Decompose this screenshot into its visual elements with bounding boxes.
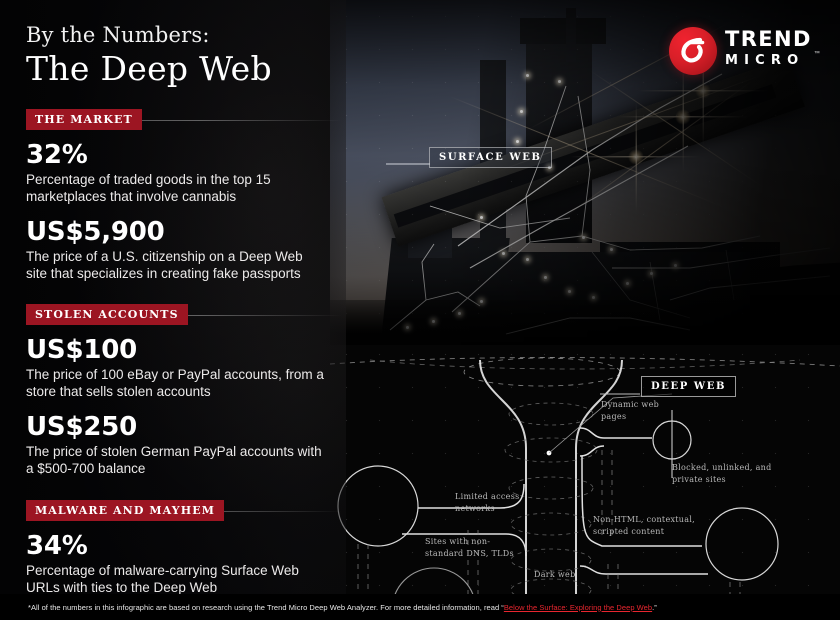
- deep-web-leader-line: [600, 390, 644, 398]
- stat-item: US$100 The price of 100 eBay or PayPal a…: [26, 335, 326, 401]
- section-header-row: THE MARKET: [26, 109, 326, 130]
- logo-trend-text: TREND: [725, 29, 812, 50]
- left-content-panel: By the Numbers: The Deep Web THE MARKET …: [0, 0, 346, 620]
- stat-description: The price of stolen German PayPal accoun…: [26, 443, 326, 478]
- section-the-market: THE MARKET 32% Percentage of traded good…: [26, 109, 326, 282]
- chip-surface-web: SURFACE WEB: [429, 147, 552, 168]
- section-header-row: STOLEN ACCOUNTS: [26, 304, 326, 325]
- diagram-label-non-html: Non-HTML, contextual, scripted content: [593, 514, 697, 537]
- footer-disclaimer: *All of the numbers in this infographic …: [0, 603, 657, 612]
- section-badge-stolen-accounts: STOLEN ACCOUNTS: [26, 304, 188, 325]
- section-stolen-accounts: STOLEN ACCOUNTS US$100 The price of 100 …: [26, 304, 326, 477]
- stat-value: US$5,900: [26, 217, 326, 247]
- chip-deep-web: DEEP WEB: [641, 376, 736, 397]
- stat-item: US$250 The price of stolen German PayPal…: [26, 412, 326, 478]
- stat-value: 32%: [26, 140, 326, 170]
- stat-description: Percentage of traded goods in the top 15…: [26, 171, 326, 206]
- stat-description: The price of 100 eBay or PayPal accounts…: [26, 366, 326, 401]
- page-title: The Deep Web: [26, 49, 326, 88]
- stat-item: 34% Percentage of malware-carrying Surfa…: [26, 531, 326, 597]
- stat-value: US$250: [26, 412, 326, 442]
- diagram-label-blocked-sites: Blocked, unlinked, and private sites: [672, 462, 792, 485]
- stat-description: The price of a U.S. citizenship on a Dee…: [26, 248, 326, 283]
- logo-micro-text: MICRO: [725, 54, 812, 67]
- section-badge-the-market: THE MARKET: [26, 109, 142, 130]
- stats-content: By the Numbers: The Deep Web THE MARKET …: [26, 0, 326, 620]
- logo-wordmark: TREND MICRO ™: [725, 29, 812, 67]
- section-badge-malware-and-mayhem: MALWARE AND MAYHEM: [26, 500, 224, 521]
- stat-item: 32% Percentage of traded goods in the to…: [26, 140, 326, 206]
- page-title-eyebrow: By the Numbers:: [26, 23, 326, 47]
- section-header-row: MALWARE AND MAYHEM: [26, 500, 326, 521]
- trend-micro-logo: TREND MICRO ™: [669, 27, 819, 75]
- deep-web-funnel-diagram: Dynamic web pages Blocked, unlinked, and…: [330, 338, 840, 600]
- stat-item: US$5,900 The price of a U.S. citizenship…: [26, 217, 326, 283]
- stat-value: 34%: [26, 531, 326, 561]
- trend-micro-ball-icon: [669, 27, 717, 75]
- footer-text-after: .”: [652, 603, 657, 612]
- diagram-label-non-standard-dns: Sites with non-standard DNS, TLDs: [425, 536, 521, 559]
- footer-text-before: *All of the numbers in this infographic …: [28, 603, 504, 612]
- surface-web-leader-line: [386, 160, 436, 168]
- diagram-label-dynamic-web-pages: Dynamic web pages: [601, 399, 673, 422]
- logo-trademark: ™: [814, 51, 820, 57]
- diagram-label-dark-web: Dark web: [534, 569, 594, 581]
- footer-report-link[interactable]: Below the Surface: Exploring the Deep We…: [504, 603, 652, 612]
- stat-value: US$100: [26, 335, 326, 365]
- stat-description: Percentage of malware-carrying Surface W…: [26, 562, 326, 597]
- footer-bar: *All of the numbers in this infographic …: [0, 594, 840, 620]
- infographic-canvas: Dynamic web pages Blocked, unlinked, and…: [0, 0, 840, 620]
- diagram-label-limited-access: Limited access networks: [455, 491, 521, 514]
